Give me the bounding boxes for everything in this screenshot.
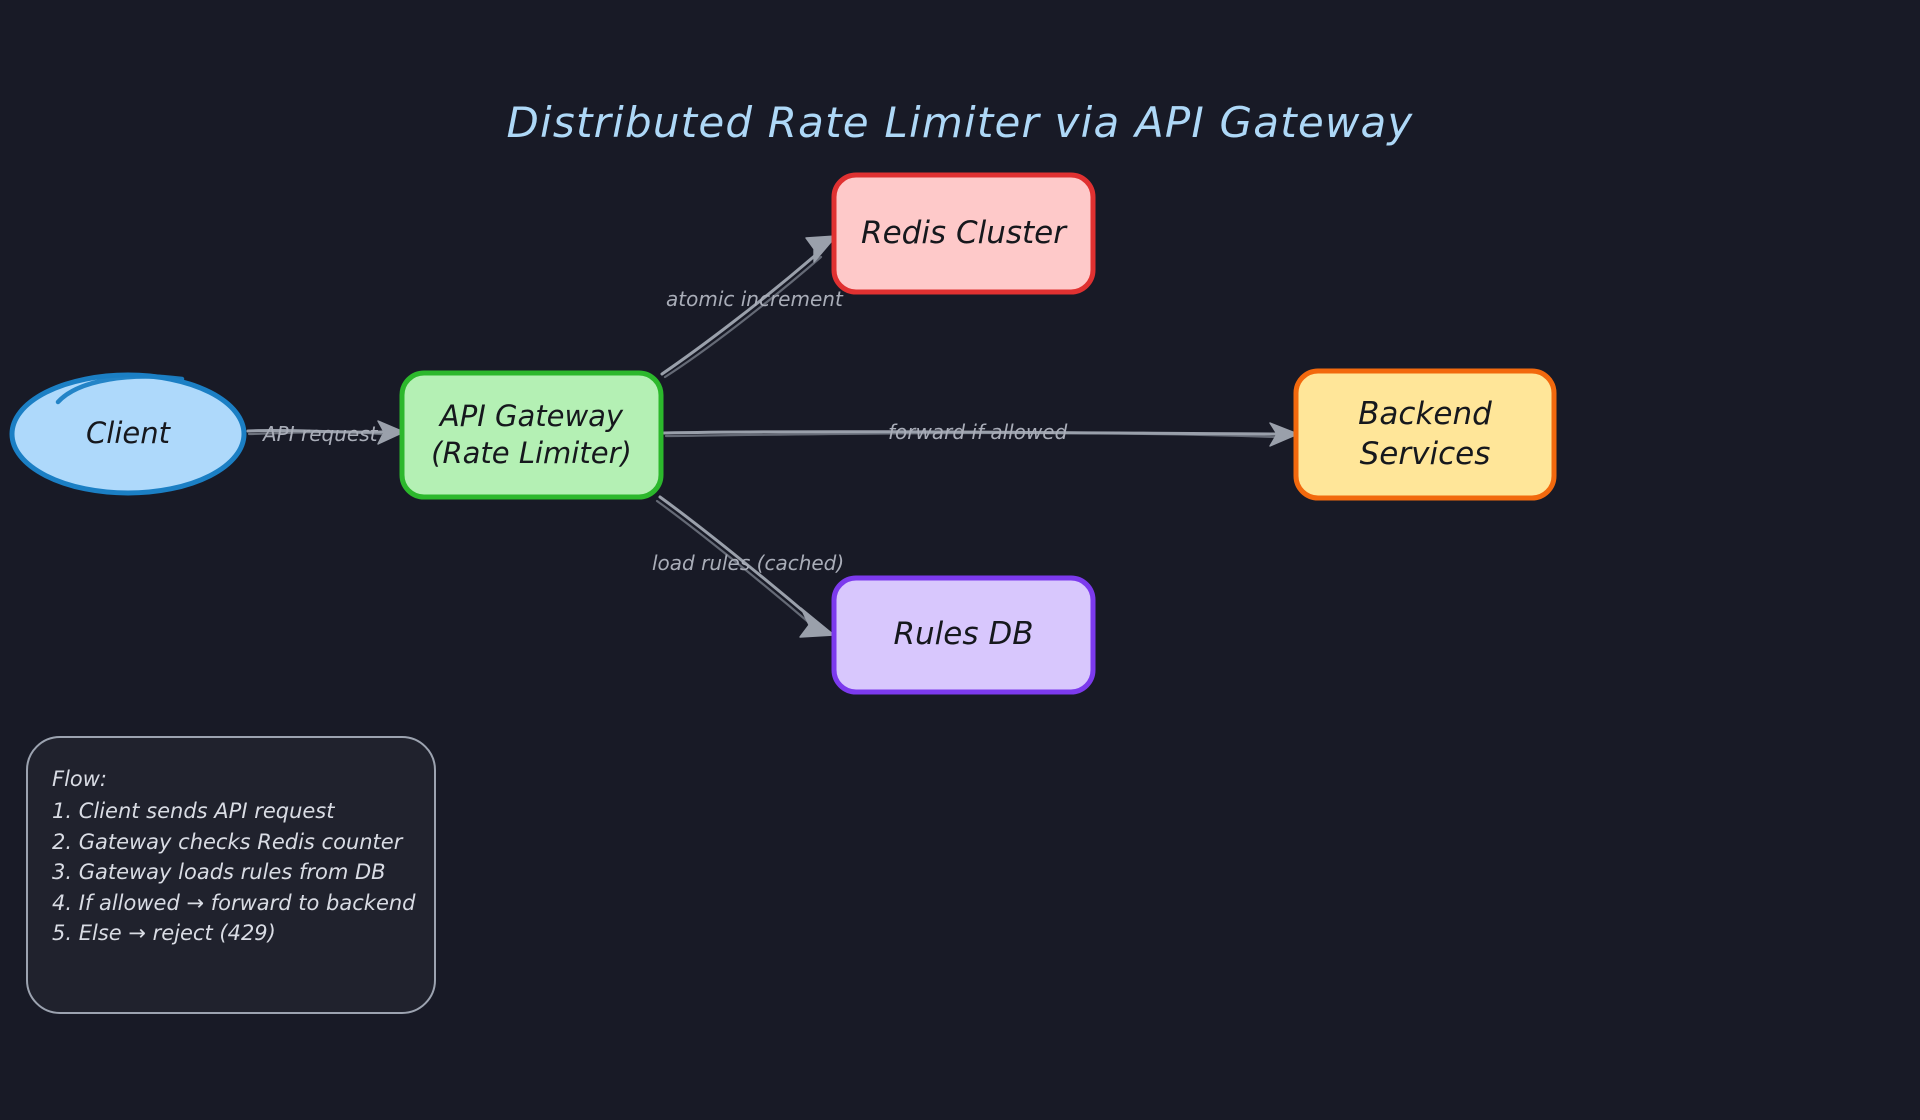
legend-step-2: 2. Gateway checks Redis counter (52, 827, 410, 857)
legend-step-3: 3. Gateway loads rules from DB (52, 857, 410, 887)
node-client[interactable] (12, 375, 244, 493)
legend-heading: Flow: (52, 764, 410, 794)
node-rules-db[interactable] (834, 578, 1093, 692)
node-backend-services[interactable] (1296, 371, 1554, 498)
node-redis-cluster[interactable] (834, 175, 1093, 292)
flow-legend: Flow: 1. Client sends API request 2. Gat… (26, 736, 436, 1014)
node-api-gateway[interactable] (402, 373, 661, 497)
diagram-canvas: Distributed Rate Limiter via API Gateway… (0, 0, 1920, 1120)
legend-step-1: 1. Client sends API request (52, 796, 410, 826)
legend-step-4: 4. If allowed → forward to backend (52, 888, 410, 918)
legend-step-5: 5. Else → reject (429) (52, 918, 410, 948)
page-title: Distributed Rate Limiter via API Gateway (0, 98, 1920, 147)
